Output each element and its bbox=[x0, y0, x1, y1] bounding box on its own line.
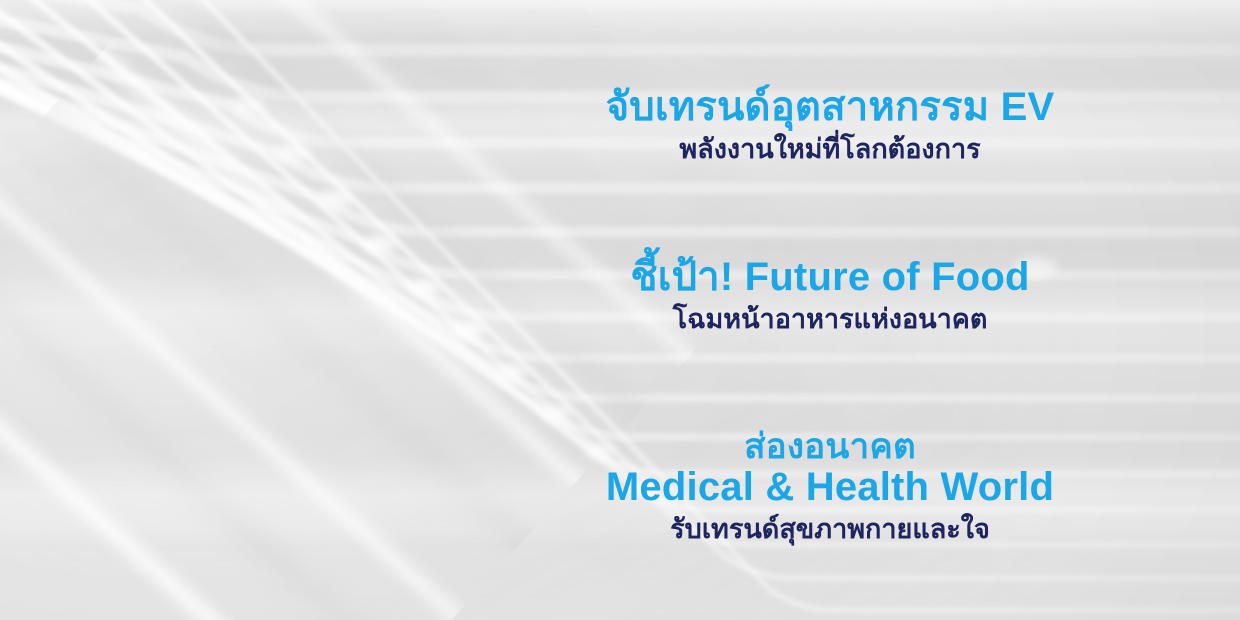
promo-subline-ev: พลังงานใหม่ที่โลกต้องการ bbox=[330, 134, 1240, 164]
promo-headline-food: ชี้เป้า! Future of Food bbox=[330, 256, 1240, 298]
promo-subline-medical: รับเทรนด์สุขภาพกายและใจ bbox=[330, 514, 1240, 544]
promo-headline-ev: จับเทรนด์อุตสาหกรรม EV bbox=[330, 86, 1240, 128]
promo-block-ev: จับเทรนด์อุตสาหกรรม EV พลังงานใหม่ที่โลก… bbox=[330, 86, 1240, 165]
promo-subline-food: โฉมหน้าอาหารแห่งอนาคต bbox=[330, 304, 1240, 334]
promo-headline-medical-thai: ส่องอนาคต bbox=[330, 428, 1240, 465]
promo-headline-medical-english: Medical & Health World bbox=[330, 466, 1240, 508]
promo-block-food: ชี้เป้า! Future of Food โฉมหน้าอาหารแห่ง… bbox=[330, 256, 1240, 335]
banner-root: จับเทรนด์อุตสาหกรรม EV พลังงานใหม่ที่โลก… bbox=[0, 0, 1240, 620]
text-stack: จับเทรนด์อุตสาหกรรม EV พลังงานใหม่ที่โลก… bbox=[0, 0, 1240, 620]
promo-block-medical: ส่องอนาคต Medical & Health World รับเทรน… bbox=[330, 428, 1240, 545]
